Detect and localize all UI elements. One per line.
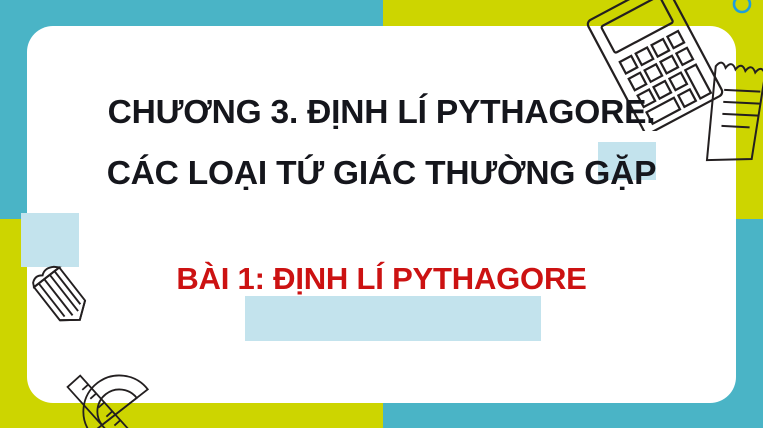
lesson-subtitle: BÀI 1: ĐỊNH LÍ PYTHAGORE	[0, 263, 763, 294]
page-title: CHƯƠNG 3. ĐỊNH LÍ PYTHAGORE. CÁC LOẠI TỨ…	[0, 96, 763, 190]
highlight-rect-center	[245, 296, 541, 341]
highlight-rect-left	[21, 213, 79, 267]
title-line-2: CÁC LOẠI TỨ GIÁC THƯỜNG GẶP	[0, 157, 763, 191]
content-card	[27, 26, 736, 403]
slide-canvas: CHƯƠNG 3. ĐỊNH LÍ PYTHAGORE. CÁC LOẠI TỨ…	[0, 0, 763, 428]
title-line-1: CHƯƠNG 3. ĐỊNH LÍ PYTHAGORE.	[0, 96, 763, 130]
